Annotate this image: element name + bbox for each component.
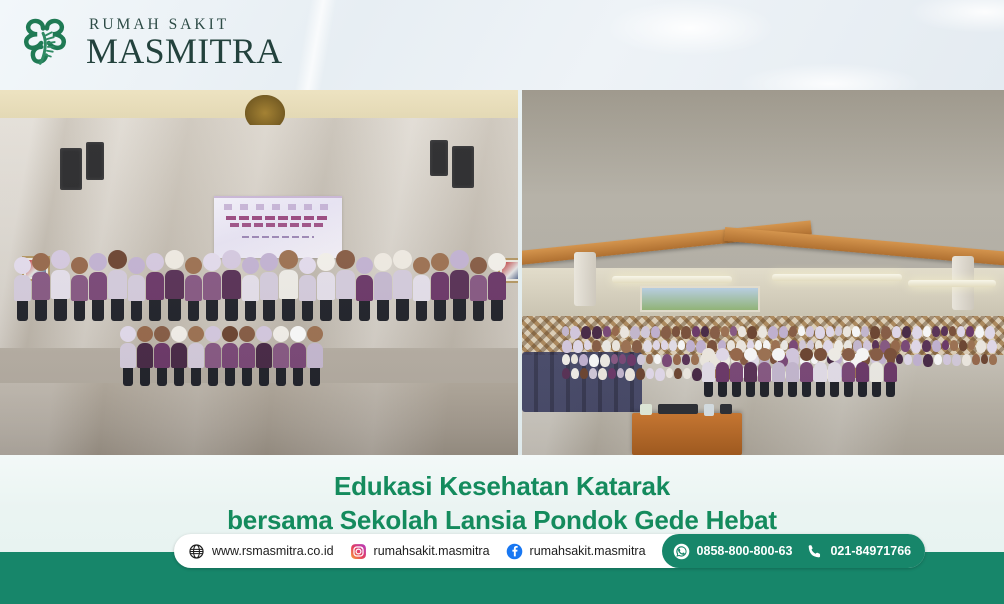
contact-facebook-label: rumahsakit.masmitra: [530, 544, 646, 558]
crowd-standing-row: [14, 250, 507, 321]
header-bar: RUMAH SAKIT MASMITRA: [0, 0, 1004, 90]
contact-whatsapp-label: 0858-800-800-63: [697, 544, 793, 558]
contact-pill: www.rsmasmitra.co.id rumahsakit.masmi: [174, 534, 925, 568]
garuda-emblem: [245, 95, 285, 125]
facebook-icon: [506, 543, 523, 560]
crowd-front-row: [702, 348, 898, 397]
front-table: [632, 413, 742, 455]
photo-group-pendopo-hall: [522, 90, 1004, 455]
brand-line1: RUMAH SAKIT: [86, 17, 282, 33]
contact-website-label: www.rsmasmitra.co.id: [212, 544, 334, 558]
contact-telephone-label: 021-84971766: [830, 544, 911, 558]
footer-bar: www.rsmasmitra.co.id rumahsakit.masmi: [0, 552, 1004, 604]
contact-instagram[interactable]: rumahsakit.masmitra: [350, 543, 506, 560]
hall-window: [640, 286, 760, 312]
globe-icon: [188, 543, 205, 560]
poster-root: RUMAH SAKIT MASMITRA: [0, 0, 1004, 604]
contact-whatsapp[interactable]: 0858-800-800-63: [673, 543, 793, 560]
crowd-kneeling-row: [120, 326, 324, 386]
photo-group-indoor-hall: [0, 90, 518, 455]
photo-strip: [0, 90, 1004, 455]
contact-instagram-label: rumahsakit.masmitra: [374, 544, 490, 558]
contact-website[interactable]: www.rsmasmitra.co.id: [188, 543, 350, 560]
phone-group: 0858-800-800-63 021-84971766: [662, 534, 926, 568]
brand-logo[interactable]: RUMAH SAKIT MASMITRA: [14, 12, 282, 74]
brand-wordmark: RUMAH SAKIT MASMITRA: [86, 17, 282, 70]
phone-icon: [806, 543, 823, 560]
brand-line2: MASMITRA: [86, 33, 282, 69]
contact-facebook[interactable]: rumahsakit.masmitra: [506, 543, 662, 560]
instagram-icon: [350, 543, 367, 560]
event-banner: [214, 196, 342, 258]
contact-telephone[interactable]: 021-84971766: [806, 543, 911, 560]
title-line-2: bersama Sekolah Lansia Pondok Gede Hebat: [227, 504, 777, 537]
title-line-1: Edukasi Kesehatan Katarak: [334, 470, 670, 503]
whatsapp-icon: [673, 543, 690, 560]
masmitra-butterfly-logo-icon: [14, 12, 76, 74]
